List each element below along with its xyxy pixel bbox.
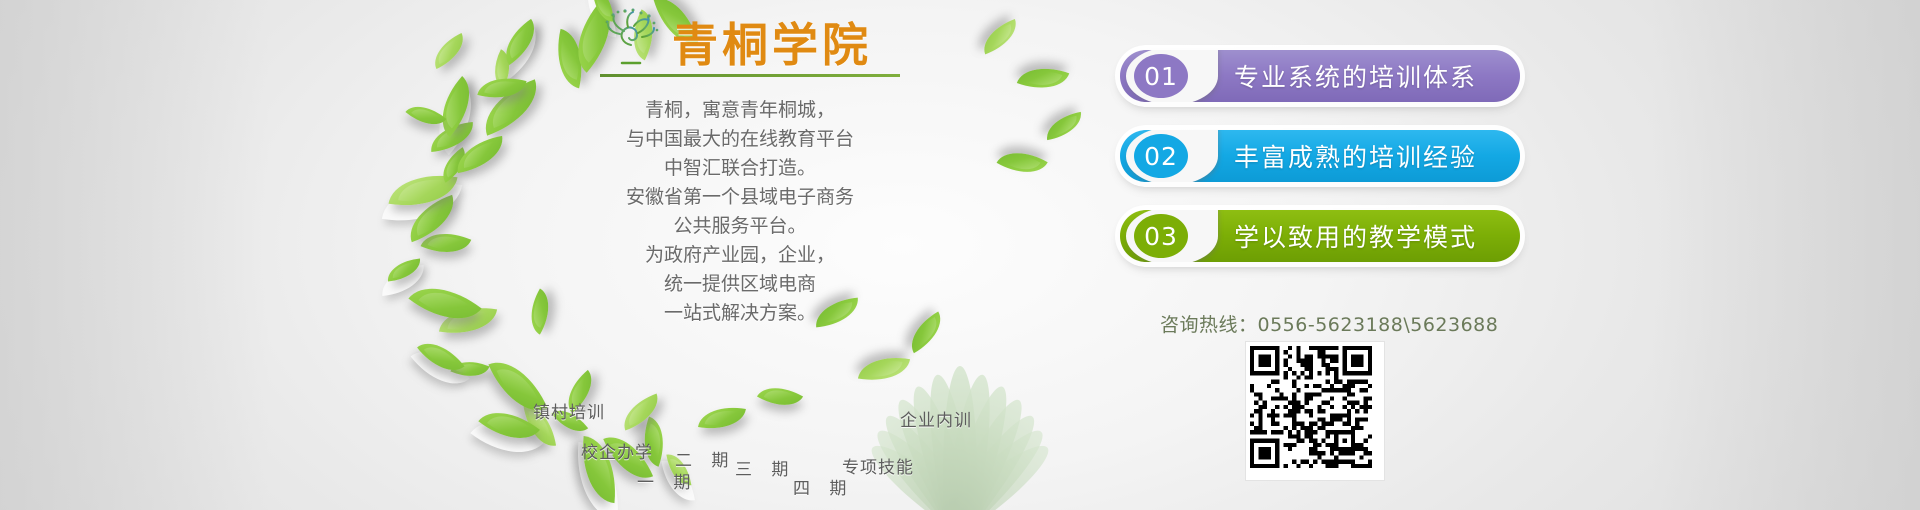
leaf: [1017, 58, 1069, 99]
banner-stage: 青桐学院 青桐，寓意青年桐城，与中国最大的在线教育平台中智汇联合打造。安徽省第一…: [0, 0, 1920, 510]
stage-label: 专项技能: [842, 453, 914, 478]
leaf: [427, 76, 486, 137]
intro-line: 统一提供区域电商: [590, 270, 890, 299]
intro-line: 一站式解决方案。: [590, 299, 890, 328]
intro-line: 青桐，寓意青年桐城，: [590, 96, 890, 125]
qr-code[interactable]: [1246, 342, 1384, 480]
feature-label: 丰富成熟的培训经验: [1234, 138, 1477, 174]
intro-paragraph: 青桐，寓意青年桐城，与中国最大的在线教育平台中智汇联合打造。安徽省第一个县域电子…: [590, 96, 890, 328]
intro-line: 为政府产业园，企业，: [590, 241, 890, 270]
brand-title: 青桐学院: [672, 22, 872, 68]
feature-badge: 02: [1120, 130, 1216, 182]
feature-label: 专业系统的培训体系: [1234, 58, 1477, 94]
tree-icon: [600, 7, 662, 70]
stage-label: 镇村培训: [533, 398, 605, 423]
feature-badge: 03: [1120, 210, 1216, 262]
feature-number: 02: [1134, 134, 1188, 178]
leaf: [977, 19, 1023, 54]
leaf: [698, 401, 746, 434]
intro-line: 中智汇联合打造。: [590, 154, 890, 183]
feature-number: 01: [1134, 54, 1188, 98]
intro-line: 安徽省第一个县域电子商务: [590, 183, 890, 212]
stage-label: 三 期: [735, 455, 795, 480]
feature-pill-03[interactable]: 03学以致用的教学模式: [1120, 210, 1520, 262]
feature-label: 学以致用的教学模式: [1234, 218, 1477, 254]
intro-line: 与中国最大的在线教育平台: [590, 125, 890, 154]
stage-label: 企业内训: [900, 406, 972, 431]
brand-logo: 青桐学院: [600, 8, 900, 77]
feature-list: 01专业系统的培训体系02丰富成熟的培训经验03学以致用的教学模式: [1120, 50, 1520, 290]
stage-label: 一 期: [637, 468, 697, 493]
leaf: [1043, 112, 1084, 140]
hotline-text: 咨询热线：0556-5623188\5623688: [1160, 310, 1498, 337]
stage-label: 二 期: [675, 446, 735, 471]
feature-number: 03: [1134, 214, 1188, 258]
logo-divider: [600, 74, 900, 77]
feature-pill-02[interactable]: 02丰富成熟的培训经验: [1120, 130, 1520, 182]
intro-line: 公共服务平台。: [590, 212, 890, 241]
leaf: [427, 33, 471, 69]
leaf: [997, 141, 1048, 185]
leaf: [520, 288, 560, 334]
feature-pill-01[interactable]: 01专业系统的培训体系: [1120, 50, 1520, 102]
stage-label: 校企办学: [581, 438, 653, 463]
feature-badge: 01: [1120, 50, 1216, 102]
